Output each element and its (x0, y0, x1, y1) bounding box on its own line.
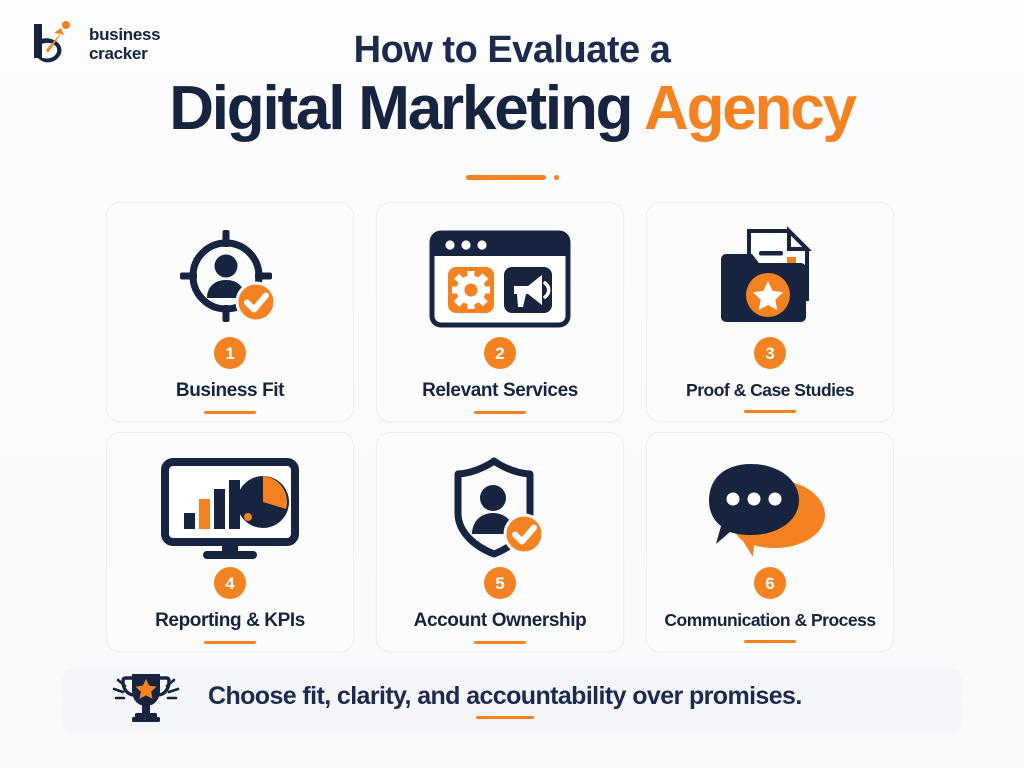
card-number-badge: 2 (484, 337, 516, 369)
criteria-grid: 1 Business Fit (106, 202, 918, 652)
criteria-card-business-fit[interactable]: 1 Business Fit (106, 202, 354, 422)
title-line-2: Digital Marketing Agency (0, 74, 1024, 143)
title-line-1: How to Evaluate a (0, 30, 1024, 72)
shield-person-check-icon (444, 453, 556, 565)
card-label: Business Fit (176, 380, 284, 402)
card-label: Communication & Process (664, 610, 875, 631)
footer-banner: Choose fit, clarity, and accountability … (62, 668, 962, 732)
infographic-page: business cracker How to Evaluate a Digit… (0, 0, 1024, 768)
title-underline-dot (554, 175, 559, 180)
card-underline (744, 640, 796, 643)
footer-underline (476, 716, 534, 719)
card-number-badge: 6 (754, 567, 786, 599)
footer-text-group: Choose fit, clarity, and accountability … (208, 682, 802, 719)
card-number-badge: 3 (754, 337, 786, 369)
speech-bubbles-icon (703, 453, 837, 565)
card-number-badge: 1 (214, 337, 246, 369)
criteria-card-communication-process[interactable]: 6 Communication & Process (646, 432, 894, 652)
card-label: Proof & Case Studies (686, 380, 854, 401)
criteria-card-reporting-kpis[interactable]: 4 Reporting & KPIs (106, 432, 354, 652)
monitor-charts-icon (160, 453, 300, 565)
card-label: Account Ownership (414, 610, 587, 632)
folder-document-star-icon (711, 223, 829, 335)
card-label: Reporting & KPIs (155, 610, 305, 632)
card-underline (204, 411, 256, 414)
criteria-card-relevant-services[interactable]: 2 Relevant Services (376, 202, 624, 422)
card-underline (474, 411, 526, 414)
card-number-badge: 5 (484, 567, 516, 599)
trophy-star-icon (106, 670, 186, 731)
browser-gear-megaphone-icon (428, 223, 572, 335)
card-underline (744, 410, 796, 413)
card-number-badge: 4 (214, 567, 246, 599)
card-underline (474, 641, 526, 644)
footer-tagline: Choose fit, clarity, and accountability … (208, 682, 802, 711)
criteria-card-account-ownership[interactable]: 5 Account Ownership (376, 432, 624, 652)
criteria-card-proof-case-studies[interactable]: 3 Proof & Case Studies (646, 202, 894, 422)
title-underline-group (0, 175, 1024, 180)
card-underline (204, 641, 256, 644)
card-label: Relevant Services (422, 380, 578, 402)
title-main-text: Digital Marketing (169, 74, 631, 143)
page-title: How to Evaluate a Digital Marketing Agen… (0, 30, 1024, 143)
title-underline-bar (466, 175, 546, 180)
target-person-check-icon (174, 223, 286, 335)
title-accent-text: Agency (644, 74, 855, 143)
